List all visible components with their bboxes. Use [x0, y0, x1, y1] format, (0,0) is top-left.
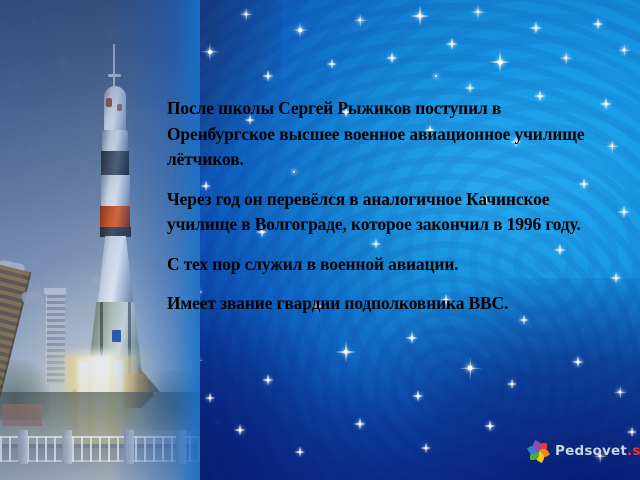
watermark-site-name: Pedsovet	[555, 443, 627, 459]
paragraph-1: После школы Сергей Рыжиков поступил в Ор…	[167, 96, 607, 173]
paragraph-2: Через год он перевёлся в аналогичное Кач…	[167, 187, 607, 238]
paragraph-4: Имеет звание гвардии подполковника ВВС.	[167, 291, 607, 317]
pinwheel-flower-logo	[527, 440, 549, 462]
slide-text-block: После школы Сергей Рыжиков поступил в Ор…	[167, 96, 607, 317]
presentation-slide: После школы Сергей Рыжиков поступил в Ор…	[0, 0, 640, 480]
paragraph-3: С тех пор служил в военной авиации.	[167, 252, 607, 278]
site-watermark[interactable]: Pedsovet.su	[527, 440, 640, 462]
watermark-text: Pedsovet.su	[555, 443, 640, 459]
watermark-site-tld: .su	[627, 443, 640, 459]
